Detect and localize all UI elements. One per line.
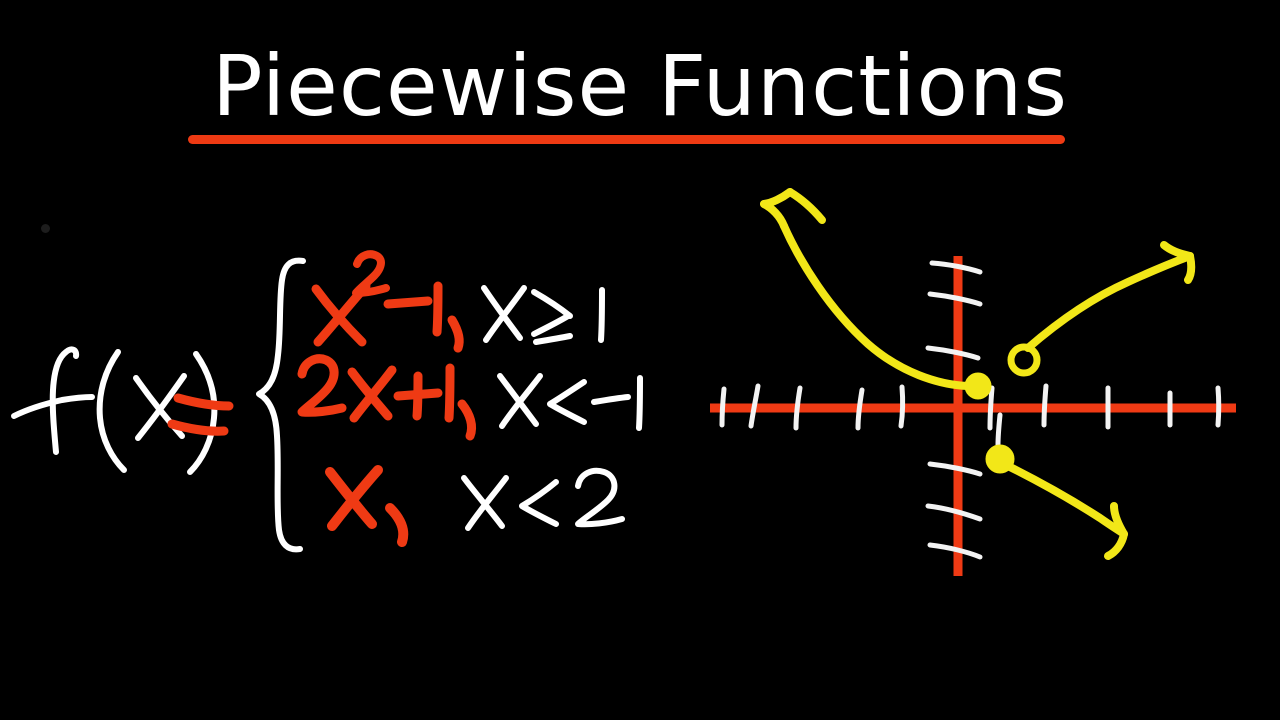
closed-circle-marker-lower xyxy=(987,446,1013,472)
slide-canvas: Piecewise Functions xyxy=(0,0,1280,720)
curve-right-branch xyxy=(1028,245,1191,348)
curve-lower-branch xyxy=(1008,466,1124,556)
curve-left-branch xyxy=(764,192,968,386)
open-circle-marker xyxy=(1011,347,1037,373)
graph-sketch xyxy=(0,0,1280,720)
closed-circle-marker-upper xyxy=(966,374,990,398)
